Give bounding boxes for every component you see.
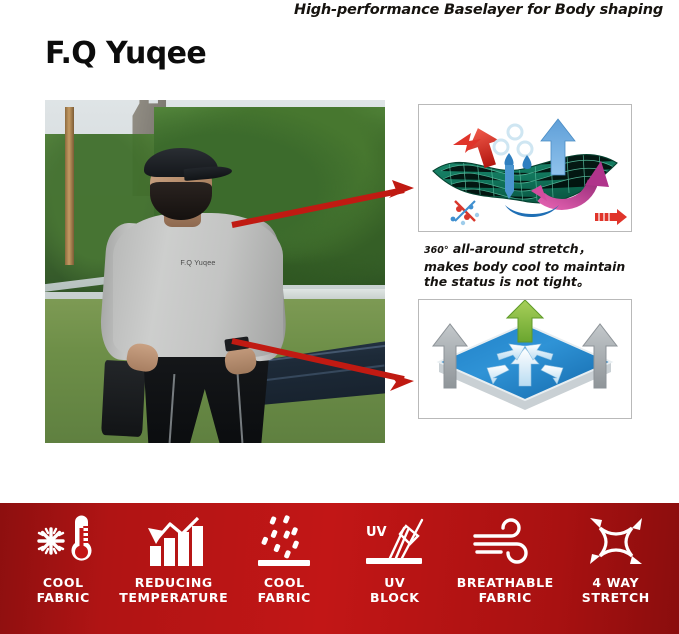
photo-gym-bag bbox=[101, 360, 146, 437]
feature-label: COOL FABRIC bbox=[258, 575, 311, 605]
uv-text: UV bbox=[366, 525, 387, 540]
feature-uv-block: UV UV BLOCK bbox=[340, 513, 451, 605]
feature-cool-fabric-1: COOL FABRIC bbox=[8, 513, 119, 605]
caption-degree-value: 360 bbox=[424, 245, 444, 256]
feature-label: REDUCING TEMPERATURE bbox=[119, 575, 228, 605]
feature-cool-fabric-2: COOL FABRIC bbox=[229, 513, 340, 605]
brand-title: F.Q Yuqee bbox=[45, 36, 206, 71]
photo-wooden-pole bbox=[65, 107, 74, 265]
caption-line-2: makes body cool to maintain bbox=[424, 259, 625, 274]
product-photo: F.Q Yuqee bbox=[45, 100, 385, 443]
breathable-diagram-panel bbox=[418, 299, 632, 419]
photo-model-shirt-torso bbox=[113, 213, 283, 357]
thermometer-glyph bbox=[72, 516, 92, 561]
feature-label: COOL FABRIC bbox=[37, 575, 90, 605]
shirt-chest-logo: F.Q Yuqee bbox=[150, 258, 245, 267]
stretch-diagram-panel bbox=[418, 104, 632, 232]
page-tagline: High-performance Baselayer for Body shap… bbox=[294, 2, 663, 18]
feature-label: 4 WAY STRETCH bbox=[582, 575, 650, 605]
descending-bar-chart-icon bbox=[142, 513, 206, 569]
four-way-stretch-diamond-icon bbox=[584, 513, 648, 569]
feature-label: UV BLOCK bbox=[370, 575, 420, 605]
caption-line-1-text: all-around stretch， bbox=[449, 241, 591, 256]
red-striped-arrow bbox=[595, 209, 627, 225]
breathable-diagram-svg bbox=[419, 300, 631, 418]
snowflake-glyph bbox=[39, 529, 63, 553]
caption-line-3: the status is not tight。 bbox=[424, 274, 589, 289]
feature-reducing-temperature: REDUCING TEMPERATURE bbox=[119, 513, 230, 605]
stretch-caption: 360° all-around stretch， makes body cool… bbox=[424, 241, 654, 290]
feature-4-way-stretch: 4 WAY STRETCH bbox=[561, 513, 672, 605]
stretch-arrowheads bbox=[590, 518, 642, 564]
feature-label: BREATHABLE FABRIC bbox=[457, 575, 554, 605]
snowflake-thermometer-icon bbox=[31, 513, 95, 569]
airflow-wind-icon bbox=[471, 513, 539, 569]
stretch-diagram-svg bbox=[419, 105, 631, 231]
particle-cluster bbox=[451, 201, 480, 225]
uv-ray-block-icon: UV bbox=[360, 513, 430, 569]
evaporating-droplets-icon bbox=[252, 513, 316, 569]
caption-line-1: 360° all-around stretch， bbox=[424, 241, 591, 256]
water-droplet-icons bbox=[494, 125, 532, 156]
feature-breathable-fabric: BREATHABLE FABRIC bbox=[450, 513, 561, 605]
feature-banner: COOL FABRIC REDUCING TEMPERATURE bbox=[0, 503, 679, 634]
